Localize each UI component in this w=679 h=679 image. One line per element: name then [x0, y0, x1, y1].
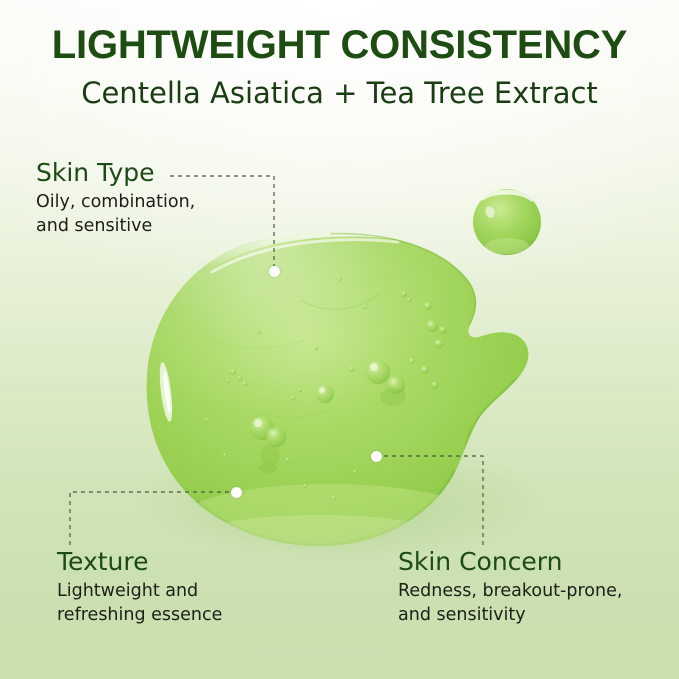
page-subtitle: Centella Asiatica + Tea Tree Extract	[0, 66, 679, 110]
marker-dot-texture	[231, 487, 242, 498]
page-title: LIGHTWEIGHT CONSISTENCY	[0, 0, 679, 66]
callout-texture-body: Lightweight and refreshing essence	[57, 580, 222, 627]
callout-skin-type-heading: Skin Type	[36, 160, 195, 186]
header: LIGHTWEIGHT CONSISTENCY Centella Asiatic…	[0, 0, 679, 110]
callout-texture: Texture Lightweight and refreshing essen…	[57, 549, 222, 627]
callout-skin-concern: Skin Concern Redness, breakout-prone, an…	[398, 549, 622, 627]
marker-dot-skin-type	[269, 266, 280, 277]
marker-dot-skin-concern	[371, 451, 382, 462]
callout-skin-type: Skin Type Oily, combination, and sensiti…	[36, 160, 195, 238]
callout-texture-heading: Texture	[57, 549, 222, 575]
callout-skin-concern-body: Redness, breakout-prone, and sensitivity	[398, 580, 622, 627]
satellite-gel-bead	[473, 189, 541, 255]
product-infographic: LIGHTWEIGHT CONSISTENCY Centella Asiatic…	[0, 0, 679, 679]
callout-skin-type-body: Oily, combination, and sensitive	[36, 191, 195, 238]
callout-skin-concern-heading: Skin Concern	[398, 549, 622, 575]
